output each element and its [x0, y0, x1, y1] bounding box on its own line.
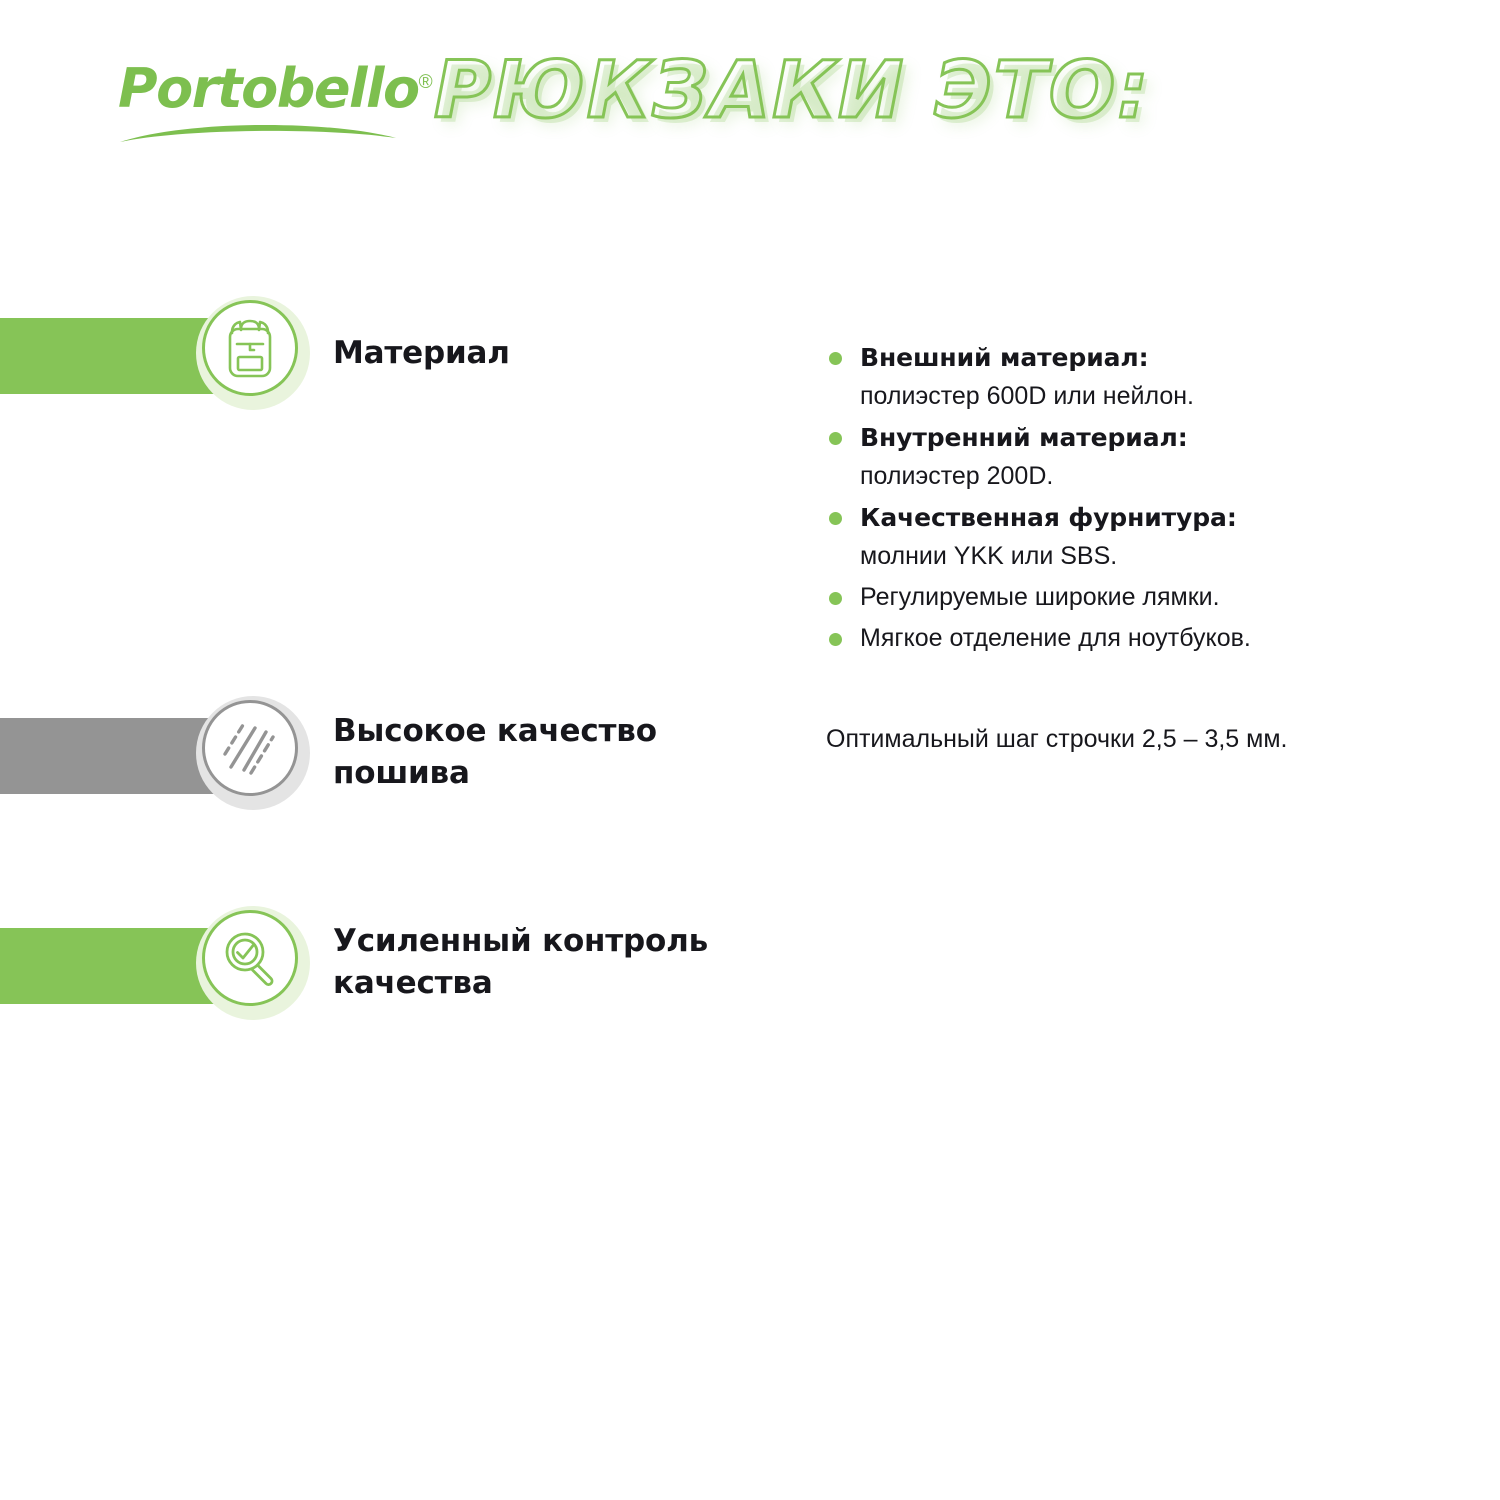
- backpack-icon: [219, 316, 281, 380]
- brand-logo-text: Portobello®: [118, 62, 408, 116]
- bullet-text: полиэстер 200D.: [860, 457, 1446, 496]
- brand-logo-word: Portobello: [118, 57, 419, 120]
- feature-label-stitch-quality: Высокое качество пошива: [333, 710, 657, 794]
- icon-circle: [202, 910, 298, 1006]
- bullet-dot-icon: [829, 512, 842, 525]
- bullet-dot-icon: [829, 592, 842, 605]
- brand-swoosh-icon: [118, 118, 398, 144]
- material-bullet-list: Внешний материал: полиэстер 600D или ней…: [826, 338, 1446, 660]
- bullet-title: Внешний материал:: [860, 338, 1446, 377]
- feature-label-material: Материал: [333, 332, 510, 374]
- page-title: РЮКЗАКИ ЭТО:: [434, 52, 1150, 130]
- stitching-icon: [219, 717, 281, 779]
- bullet-title: Внутренний материал:: [860, 418, 1446, 457]
- bullet-title: Качественная фурнитура:: [860, 498, 1446, 537]
- bullet-dot-icon: [829, 352, 842, 365]
- icon-circle: [202, 700, 298, 796]
- brand-logo: Portobello®: [118, 62, 408, 142]
- list-item: Внутренний материал: полиэстер 200D.: [826, 418, 1446, 496]
- list-item: Регулируемые широкие лямки.: [826, 578, 1446, 617]
- feature-label-quality-control: Усиленный контроль качества: [333, 920, 708, 1004]
- bullet-text: Мягкое отделение для ноутбуков.: [860, 619, 1446, 658]
- bullet-text: полиэстер 600D или нейлон.: [860, 377, 1446, 416]
- list-item: Качественная фурнитура: молнии YKK или S…: [826, 498, 1446, 576]
- list-item: Внешний материал: полиэстер 600D или ней…: [826, 338, 1446, 416]
- list-item: Мягкое отделение для ноутбуков.: [826, 619, 1446, 658]
- bullet-dot-icon: [829, 633, 842, 646]
- magnifier-check-icon: [219, 927, 281, 989]
- bullet-dot-icon: [829, 432, 842, 445]
- bullet-text: молнии YKK или SBS.: [860, 537, 1446, 576]
- registered-trademark-icon: ®: [419, 72, 433, 93]
- icon-circle: [202, 300, 298, 396]
- stitch-note: Оптимальный шаг строчки 2,5 – 3,5 мм.: [826, 722, 1287, 756]
- feature-row-stitch-quality: Высокое качество пошива: [0, 696, 1500, 836]
- bullet-text: Регулируемые широкие лямки.: [860, 578, 1446, 617]
- feature-row-quality-control: Усиленный контроль качества: [0, 906, 1500, 1046]
